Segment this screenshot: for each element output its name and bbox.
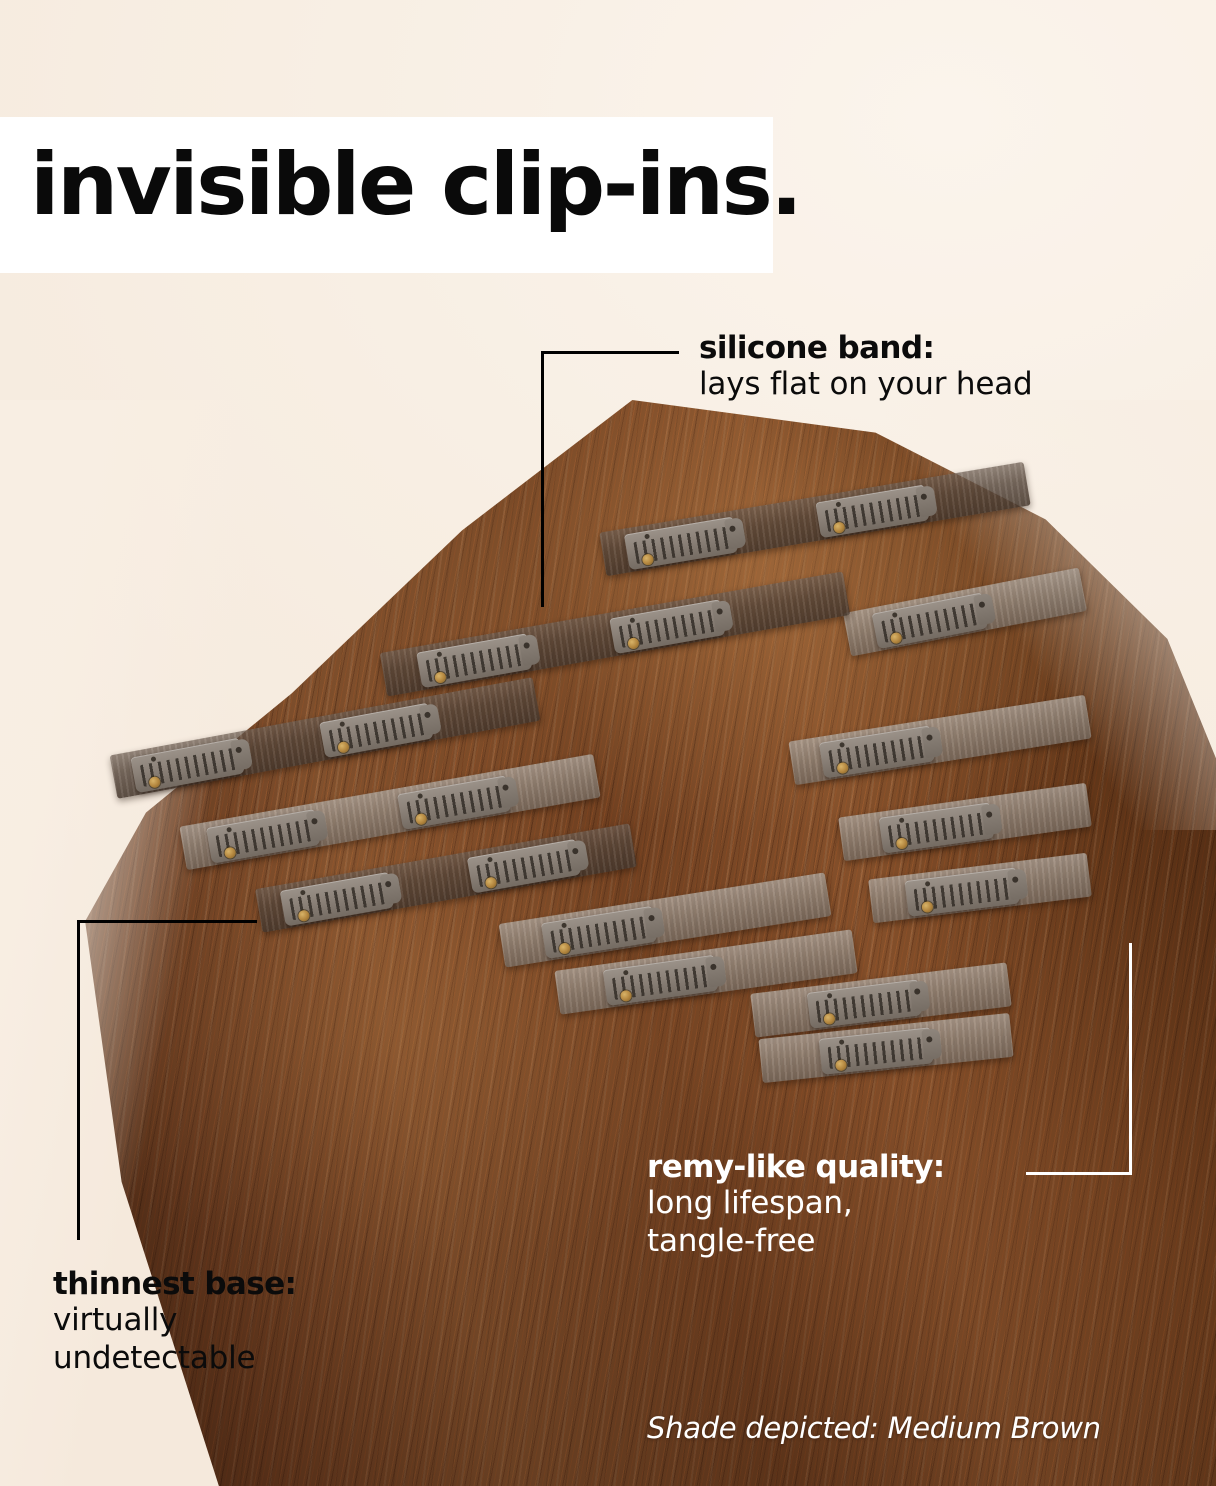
clip-grommet bbox=[836, 762, 849, 775]
clip-rivet bbox=[417, 793, 423, 799]
clip-grommet bbox=[896, 837, 908, 849]
clip-rivet bbox=[839, 742, 845, 748]
clip-grommet bbox=[835, 1059, 847, 1071]
callout-remy-like-quality: remy-like quality: long lifespan, tangle… bbox=[647, 1150, 945, 1260]
callout-body-line1: long lifespan, bbox=[647, 1185, 945, 1223]
product-infographic: invisible clip-ins. silicone band: lays … bbox=[0, 0, 1216, 1486]
clip-rivet bbox=[226, 827, 232, 833]
callout-body-line1: virtually bbox=[53, 1302, 296, 1340]
shade-depicted-note: Shade depicted: Medium Brown bbox=[647, 1411, 1101, 1445]
callout-heading: silicone band: bbox=[699, 331, 1033, 366]
callout-heading: thinnest base: bbox=[53, 1267, 296, 1302]
clip-tab bbox=[909, 980, 931, 1012]
clip-tab bbox=[921, 1028, 942, 1060]
clip-rivet bbox=[644, 534, 650, 540]
callout-silicone-band: silicone band: lays flat on your head bbox=[699, 331, 1033, 404]
callout-body: lays flat on your head bbox=[699, 366, 1033, 404]
callout-thinnest-base: thinnest base: virtually undetectable bbox=[53, 1267, 296, 1377]
clip-grommet bbox=[921, 901, 933, 913]
clip-rivet bbox=[836, 502, 842, 508]
clip-rivet bbox=[623, 970, 629, 976]
clip-rivet bbox=[899, 817, 905, 823]
clip-rivet bbox=[827, 993, 833, 999]
callout-body-line2: undetectable bbox=[53, 1340, 296, 1378]
callout-heading: remy-like quality: bbox=[647, 1150, 945, 1185]
clip-rivet bbox=[561, 922, 567, 928]
clip-rivet bbox=[300, 890, 306, 896]
clip-grommet bbox=[558, 942, 571, 955]
clip-rivet bbox=[436, 651, 442, 657]
page-title: invisible clip-ins. bbox=[30, 142, 800, 228]
callout-body-line2: tangle-free bbox=[647, 1223, 945, 1261]
clip-rivet bbox=[839, 1039, 844, 1044]
clip-grommet bbox=[620, 990, 632, 1002]
clip-tab bbox=[1007, 868, 1029, 900]
clip-grommet bbox=[823, 1013, 835, 1025]
clip-rivet bbox=[925, 881, 931, 887]
